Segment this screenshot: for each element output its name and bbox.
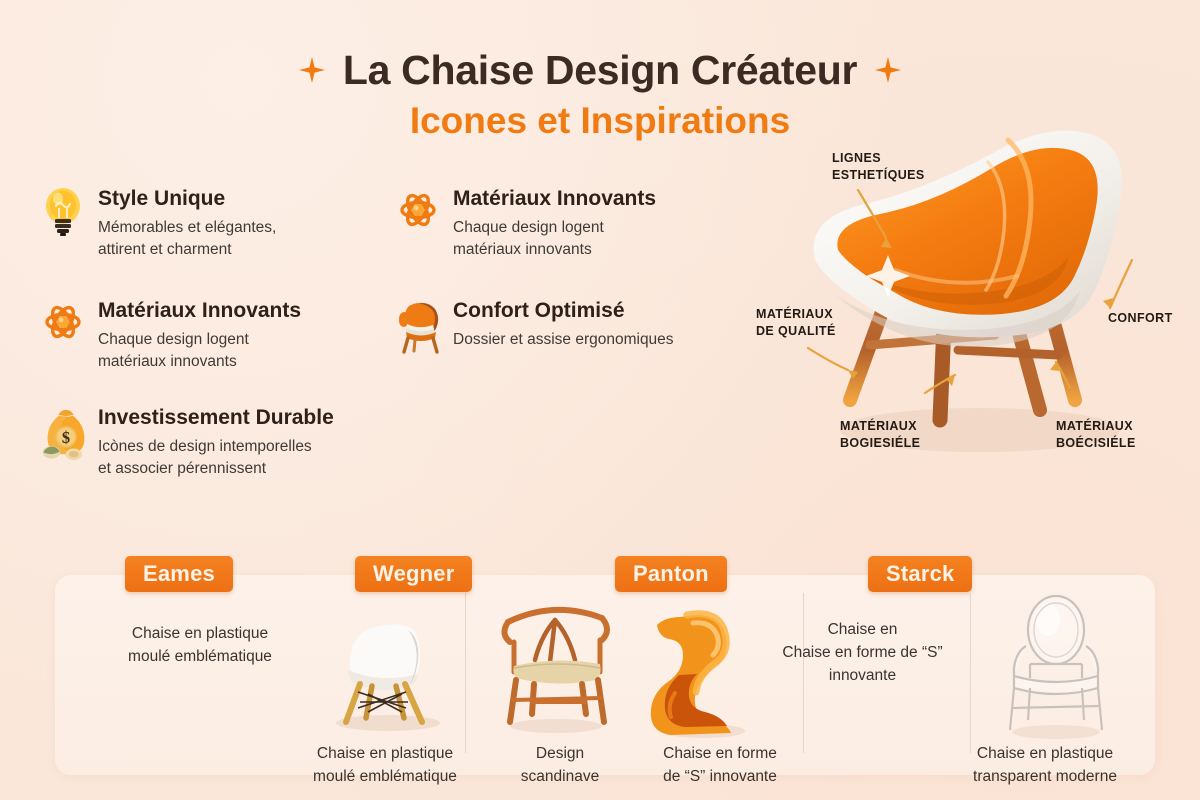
feature-title: Style Unique [98, 186, 276, 212]
chair-diagram: LIGNES ESTHETÍQUES MATÉRIAUX DE QUALITÉ … [740, 100, 1200, 520]
feature-text: Investissement Durable Icònes de design … [98, 405, 334, 479]
feature-investissement-durable: $ Investissement Durable Icònes de desig… [40, 405, 334, 479]
atom-icon [40, 298, 86, 348]
diagram-label-line: BOÉCISIÉLE [1056, 435, 1136, 452]
feature-text: Matériaux Innovants Chaque design logent… [98, 298, 301, 372]
sparkle-icon [875, 57, 901, 83]
diagram-label-materiaux-bogiesiele: MATÉRIAUX BOGIESIÉLE [840, 418, 920, 451]
caption-line: Chaise en forme [635, 742, 805, 765]
designer-badge-panton[interactable]: Panton [615, 556, 727, 592]
infographic-canvas: La Chaise Design Créateur Icones et Insp… [0, 0, 1200, 800]
title-line-1-wrapper: La Chaise Design Créateur [343, 44, 857, 96]
diagram-label-line: CONFORT [1108, 310, 1173, 327]
armchair-icon [395, 298, 441, 348]
designer-badge-eames[interactable]: Eames [125, 556, 233, 592]
caption-line: moulé emblématique [285, 765, 485, 788]
caption-starck-center: Chaise en Chaise en forme de “S” innovan… [755, 618, 970, 687]
designer-badge-wegner[interactable]: Wegner [355, 556, 472, 592]
caption-line: Chaise en plastique [85, 622, 315, 645]
feature-text: Confort Optimisé Dossier et assise ergon… [453, 298, 674, 351]
diagram-label-line: MATÉRIAUX [840, 418, 920, 435]
feature-desc-line-2: matériaux innovants [98, 351, 301, 373]
caption-line: moulé emblématique [85, 645, 315, 668]
feature-style-unique: Style Unique Mémorables et elégantes, at… [40, 186, 276, 260]
feature-text: Matériaux Innovants Chaque design logent… [453, 186, 656, 260]
diagram-label-line: LIGNES [832, 150, 925, 167]
title-main-text: La Chaise Design Créateur [343, 47, 857, 93]
designer-badge-starck[interactable]: Starck [868, 556, 972, 592]
feature-desc-line-1: Chaque design logent [98, 329, 301, 351]
feature-desc-line-2: matériaux innovants [453, 239, 656, 261]
caption-ghost: Chaise en plastique transparent moderne [935, 742, 1155, 788]
diagram-label-line: MATÉRIAUX [1056, 418, 1136, 435]
badge-label: Wegner [373, 556, 454, 592]
feature-title: Matériaux Innovants [453, 186, 656, 212]
caption-line: Chaise en [755, 618, 970, 641]
caption-wegner: Chaise en plastique moulé emblématique [285, 742, 485, 788]
svg-text:$: $ [62, 428, 70, 447]
feature-text: Style Unique Mémorables et elégantes, at… [98, 186, 276, 260]
feature-desc-line-1: Mémorables et elégantes, [98, 217, 276, 239]
feature-title: Confort Optimisé [453, 298, 674, 324]
caption-eames-left: Chaise en plastique moulé emblématique [85, 622, 315, 668]
atom-icon [395, 186, 441, 236]
caption-line: Chaise en plastique [285, 742, 485, 765]
feature-title: Matériaux Innovants [98, 298, 301, 324]
caption-line: Chaise en plastique [935, 742, 1155, 765]
badge-label: Starck [886, 556, 954, 592]
caption-starck: Chaise en forme de “S” innovante [635, 742, 805, 788]
diagram-label-lignes-esthetiques: LIGNES ESTHETÍQUES [832, 150, 925, 183]
feature-title: Investissement Durable [98, 405, 334, 431]
feature-materiaux-innovants-left: Matériaux Innovants Chaque design logent… [40, 298, 301, 372]
feature-desc-line-1: Icònes de design intemporelles [98, 436, 334, 458]
caption-line: transparent moderne [935, 765, 1155, 788]
chair-illustration-eames-dsw [310, 610, 460, 735]
diagram-label-line: MATÉRIAUX [756, 306, 836, 323]
diagram-label-line: BOGIESIÉLE [840, 435, 920, 452]
caption-line: de “S” innovante [635, 765, 805, 788]
chair-illustration-panton-s [645, 605, 765, 740]
sparkle-icon [299, 57, 325, 83]
diagram-label-confort: CONFORT [1108, 310, 1173, 327]
caption-line: Chaise en forme de “S” [755, 641, 970, 664]
chair-illustration-wishbone [490, 592, 620, 737]
panel-divider [970, 593, 971, 753]
badge-label: Panton [633, 556, 709, 592]
chair-illustration-louis-ghost [990, 592, 1120, 742]
diagram-label-line: ESTHETÍQUES [832, 167, 925, 184]
feature-desc-line-2: attirent et charment [98, 239, 276, 261]
diagram-label-materiaux-de-qualite: MATÉRIAUX DE QUALITÉ [756, 306, 836, 339]
panel-divider [465, 593, 466, 753]
diagram-label-materiaux-boecisiele: MATÉRIAUX BOÉCISIÉLE [1056, 418, 1136, 451]
feature-desc-line-2: et associer pérennissent [98, 458, 334, 480]
lightbulb-icon [40, 186, 86, 236]
caption-line: scandinave [495, 765, 625, 788]
feature-desc-line-1: Chaque design logent [453, 217, 656, 239]
caption-line: Design [495, 742, 625, 765]
feature-materiaux-innovants-right: Matériaux Innovants Chaque design logent… [395, 186, 656, 260]
money-bag-icon: $ [40, 405, 86, 455]
badge-label: Eames [143, 556, 215, 592]
feature-confort-optimise: Confort Optimisé Dossier et assise ergon… [395, 298, 674, 351]
caption-line: innovante [755, 664, 970, 687]
feature-desc-line-1: Dossier et assise ergonomiques [453, 329, 674, 351]
caption-panton: Design scandinave [495, 742, 625, 788]
diagram-label-line: DE QUALITÉ [756, 323, 836, 340]
